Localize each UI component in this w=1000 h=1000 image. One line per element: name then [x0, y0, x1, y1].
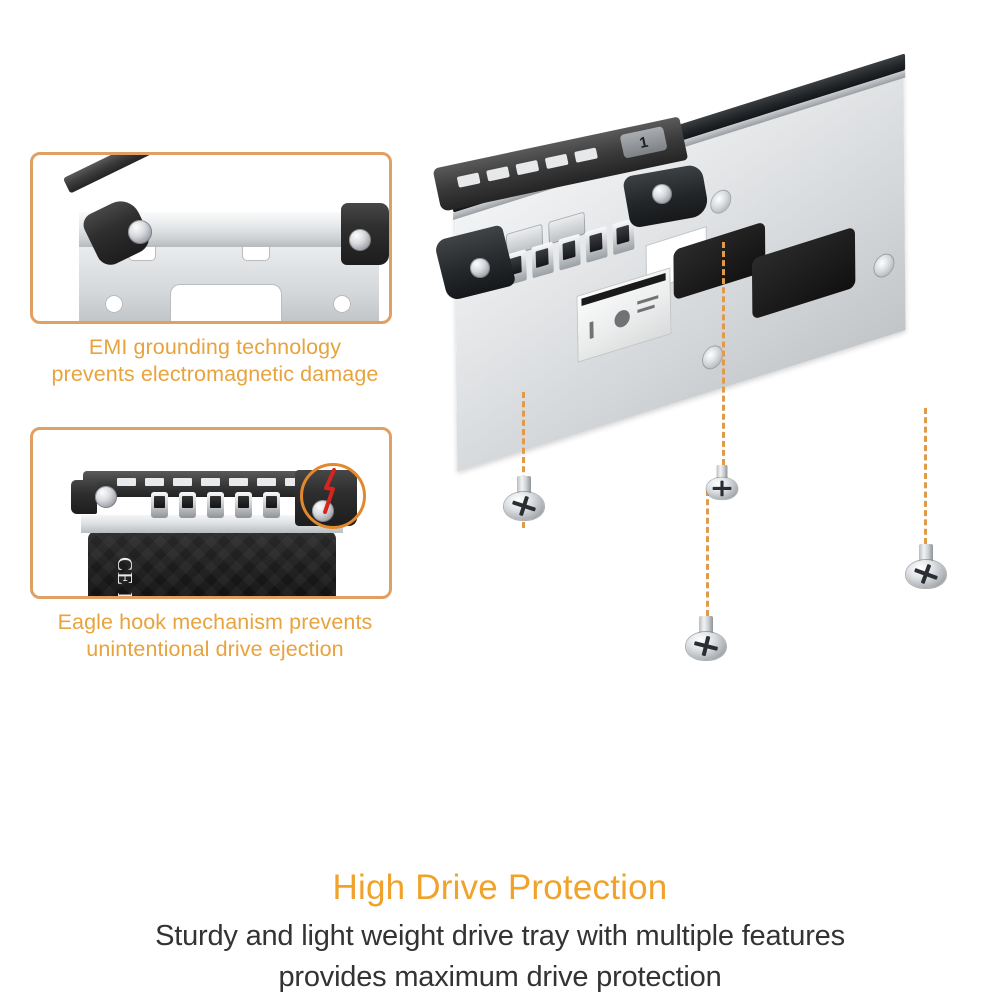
screw-head — [906, 560, 946, 588]
bracket-hole — [105, 295, 123, 313]
screw-head — [706, 478, 737, 500]
leader-line — [722, 242, 725, 474]
latch-bar-slot — [229, 478, 248, 486]
latch-bar-slot — [257, 478, 276, 486]
main-product-photo: 1 — [430, 140, 990, 700]
latch-bar-slot — [173, 478, 192, 486]
bracket-notch — [243, 247, 269, 260]
emi-product-photo — [33, 155, 389, 321]
screw-mount-hole — [874, 252, 893, 279]
handle-slot — [574, 147, 598, 162]
emi-spring-nub — [235, 492, 252, 518]
latch-handle-bar — [63, 152, 180, 194]
latch-bar-slot — [117, 478, 136, 486]
screw-head — [504, 492, 544, 520]
hook-caption-line-1: Eagle hook mechanism prevents — [0, 609, 430, 636]
latch-bar-slot — [145, 478, 164, 486]
mounting-screw — [686, 616, 726, 662]
left-pivot-screw — [95, 486, 117, 508]
handle-slot — [515, 160, 539, 175]
seated-screw — [706, 465, 737, 501]
emi-callout-frame — [30, 152, 392, 324]
leader-line — [706, 490, 709, 616]
page-subheadline: Sturdy and light weight drive tray with … — [0, 916, 1000, 998]
hook-callout-frame: CE FC — [30, 427, 392, 599]
handle-slot — [545, 154, 569, 169]
emi-spring-contact — [558, 234, 580, 271]
emi-spring-nub — [207, 492, 224, 518]
emi-caption-line-2: prevents electromagnetic damage — [0, 361, 430, 388]
screw-mount-hole — [711, 188, 730, 215]
handle-number-badge: 1 — [620, 126, 668, 159]
mounting-screw — [504, 476, 544, 522]
leader-line — [924, 408, 927, 544]
mounting-screw — [906, 544, 946, 590]
handle-slot — [457, 172, 481, 187]
emi-spring-nub — [179, 492, 196, 518]
subheadline-line-2: provides maximum drive protection — [0, 957, 1000, 998]
label-mark — [637, 295, 658, 305]
phillips-slot — [720, 481, 723, 497]
red-hook-indicator — [319, 468, 345, 514]
emi-callout-caption: EMI grounding technology prevents electr… — [0, 334, 430, 388]
right-latch-screw — [349, 229, 371, 251]
handle-slot — [486, 166, 510, 181]
emi-spring-contact — [532, 241, 554, 278]
bracket-hole — [333, 295, 351, 313]
label-mark — [590, 321, 594, 339]
label-mark — [637, 305, 654, 313]
eagle-hook-product-photo: CE FC — [33, 430, 389, 596]
screw-head — [686, 632, 726, 660]
page-headline: High Drive Protection — [0, 866, 1000, 910]
handle-pivot-screw — [652, 184, 672, 204]
latch-bar-slot — [201, 478, 220, 486]
screw-mount-hole — [703, 344, 722, 371]
left-latch-screw — [470, 258, 490, 278]
ce-fcc-marking: CE FC — [80, 557, 136, 583]
hook-callout-caption: Eagle hook mechanism prevents unintentio… — [0, 609, 430, 663]
rubber-pad — [752, 227, 856, 320]
subheadline-line-1: Sturdy and light weight drive tray with … — [0, 916, 1000, 957]
infographic-canvas: EMI grounding technology prevents electr… — [0, 0, 1000, 1000]
hook-caption-line-2: unintentional drive ejection — [0, 636, 430, 663]
emi-caption-line-1: EMI grounding technology — [0, 334, 430, 361]
emi-spring-nubs — [151, 492, 281, 520]
emi-spring-nub — [263, 492, 280, 518]
emi-spring-nub — [151, 492, 168, 518]
left-latch-tab — [71, 480, 97, 514]
pivot-screw — [128, 220, 152, 244]
emi-spring-contact — [585, 226, 607, 263]
label-certification-icon — [614, 308, 630, 329]
